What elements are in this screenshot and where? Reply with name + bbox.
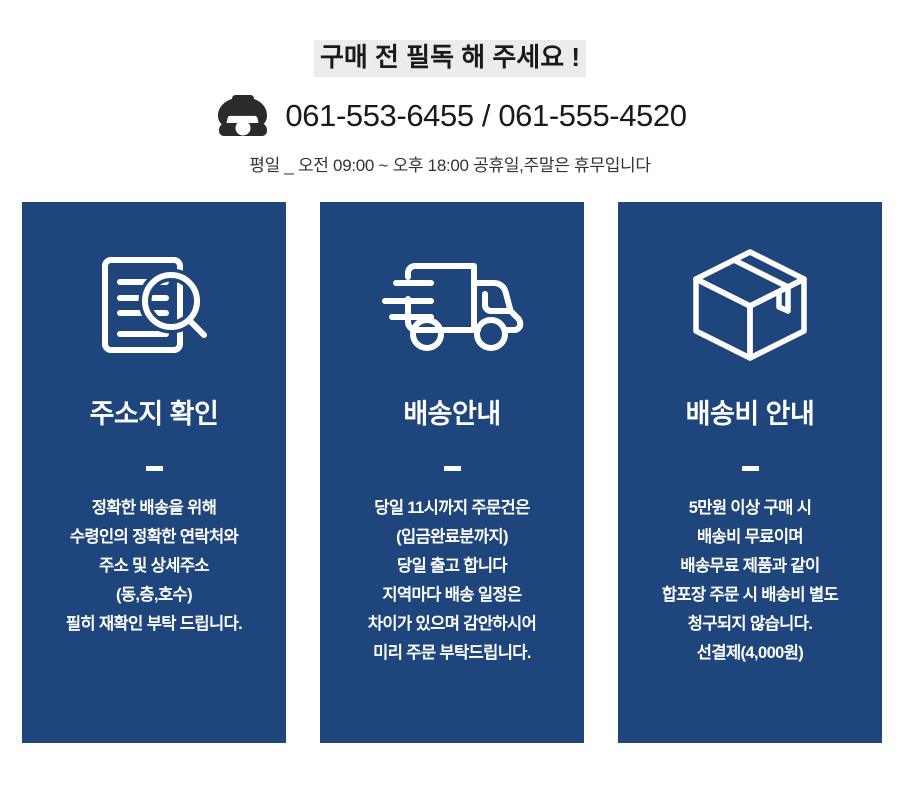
card-body-line: 미리 주문 부탁드립니다. [328, 639, 576, 668]
document-search-icon [22, 244, 286, 366]
info-card-delivery: 배송안내 당일 11시까지 주문건은 (입금완료분까지) 당일 출고 합니다 지… [320, 202, 584, 743]
card-body-line: 합포장 주문 시 배송비 별도 [626, 581, 874, 610]
card-title: 배송비 안내 [618, 398, 882, 430]
info-card-address: 주소지 확인 정확한 배송을 위해 수령인의 정확한 연락처와 주소 및 상세주… [22, 202, 286, 743]
phone-numbers[interactable]: 061-553-6455 / 061-555-4520 [285, 98, 686, 134]
page-title: 구매 전 필독 해 주세요 ! [314, 40, 586, 77]
card-body-line: 수령인의 정확한 연락처와 [30, 523, 278, 552]
card-divider [444, 466, 461, 471]
card-title: 배송안내 [320, 398, 584, 430]
card-body-line: 선결제(4,000원) [626, 639, 874, 668]
card-body-line: 당일 11시까지 주문건은 [328, 494, 576, 523]
card-body-line: 지역마다 배송 일정은 [328, 581, 576, 610]
card-body: 당일 11시까지 주문건은 (입금완료분까지) 당일 출고 합니다 지역마다 배… [320, 494, 584, 668]
card-body: 정확한 배송을 위해 수령인의 정확한 연락처와 주소 및 상세주소 (동,층,… [22, 494, 286, 639]
card-body: 5만원 이상 구매 시 배송비 무료이며 배송무료 제품과 같이 합포장 주문 … [618, 494, 882, 668]
card-body-line: 주소 및 상세주소 [30, 552, 278, 581]
card-title: 주소지 확인 [22, 398, 286, 430]
card-body-line: (동,층,호수) [30, 581, 278, 610]
notice-title-wrap: 구매 전 필독 해 주세요 ! [0, 0, 900, 77]
card-body-line: 5만원 이상 구매 시 [626, 494, 874, 523]
card-body-line: 배송무료 제품과 같이 [626, 552, 874, 581]
card-body-line: (입금완료분까지) [328, 523, 576, 552]
card-body-line: 필히 재확인 부탁 드립니다. [30, 610, 278, 639]
card-divider [742, 466, 759, 471]
business-hours: 평일 _ 오전 09:00 ~ 오후 18:00 공휴일,주말은 휴무입니다 [0, 151, 900, 176]
card-body-line: 차이가 있으며 감안하시어 [328, 610, 576, 639]
info-card-shipping-fee: 배송비 안내 5만원 이상 구매 시 배송비 무료이며 배송무료 제품과 같이 … [618, 202, 882, 743]
info-card-group: 주소지 확인 정확한 배송을 위해 수령인의 정확한 연락처와 주소 및 상세주… [22, 202, 882, 743]
card-body-line: 배송비 무료이며 [626, 523, 874, 552]
package-box-icon [618, 244, 882, 366]
notice-header: 구매 전 필독 해 주세요 ! 061-553-6455 [0, 0, 900, 176]
card-divider [146, 466, 163, 471]
card-body-line: 청구되지 않습니다. [626, 610, 874, 639]
card-body-line: 당일 출고 합니다 [328, 552, 576, 581]
card-body-line: 정확한 배송을 위해 [30, 494, 278, 523]
shipping-notice-page: 구매 전 필독 해 주세요 ! 061-553-6455 [0, 0, 900, 792]
telephone-icon [213, 93, 273, 139]
delivery-truck-icon [320, 244, 584, 366]
phone-row: 061-553-6455 / 061-555-4520 [0, 89, 900, 143]
